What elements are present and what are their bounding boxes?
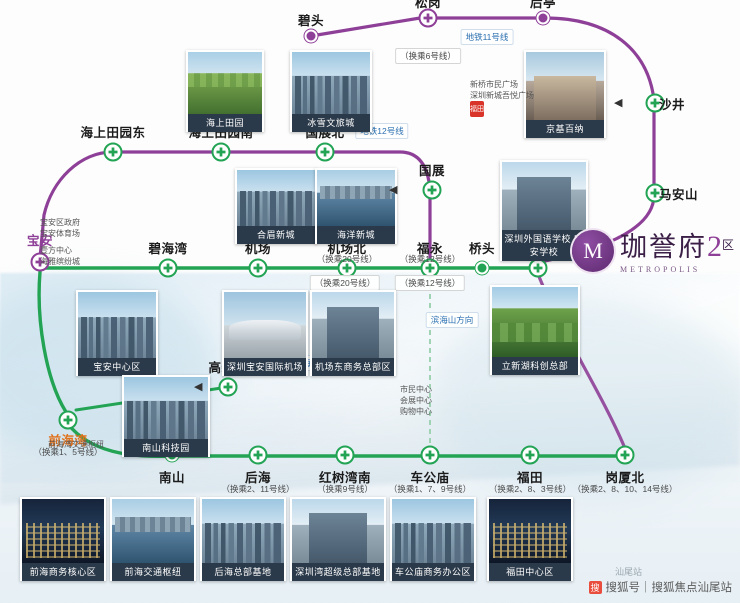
station-icon-bihaiwan (159, 259, 178, 278)
card-futian-center-photo (489, 499, 571, 563)
station-note-chegongmiao: （换乘1、7、9号线） (389, 483, 471, 495)
station-icon-tangwei (529, 259, 548, 278)
card-airport-hub-caption: 深圳宝安国际机场 (224, 358, 306, 376)
station-icon-guozhanbei (316, 143, 335, 162)
card-lichao-image (492, 287, 578, 357)
card-haiyang[interactable]: 海洋新城 (315, 168, 397, 244)
card-airport-hub-photo (224, 292, 306, 358)
station-marker-gaoxinyuan[interactable] (219, 378, 238, 397)
station-marker-haishangtianyuandong[interactable] (104, 143, 123, 162)
card-hexie[interactable]: 合眉新城 (235, 168, 317, 244)
station-marker-futian[interactable] (521, 446, 540, 465)
station-icon-songgang (419, 9, 438, 28)
station-label-houting: 后亭 (530, 0, 556, 11)
station-marker-bitou[interactable] (305, 30, 318, 43)
station-marker-tangwei[interactable] (529, 259, 548, 278)
watermark: 搜 搜狐号｜搜狐焦点汕尾站 (589, 579, 733, 595)
station-label-shajing: 沙井 (659, 94, 685, 113)
card-hexie-caption: 合眉新城 (237, 226, 315, 244)
card-qianhai-core-photo (22, 499, 104, 563)
station-label-songgang: 松岗 (415, 0, 441, 11)
card-bingxue-caption: 冰雪文旅城 (292, 114, 370, 132)
station-marker-guozhanbei[interactable] (316, 143, 335, 162)
station-marker-qiaotou[interactable] (476, 262, 489, 275)
card-airport-hub[interactable]: 深圳宝安国际机场 (222, 290, 308, 376)
station-marker-gangxiabei[interactable] (616, 446, 635, 465)
card-jingji-image (526, 52, 604, 120)
note-futian-cbd: 市民中心 会展中心 购物中心 (400, 385, 432, 417)
card-bingxue-image (292, 52, 370, 114)
card-qianhai-hub2-caption: 前海交通枢纽 (112, 563, 194, 581)
card-haiyang-caption: 海洋新城 (317, 226, 395, 244)
station-icon-houting (537, 12, 550, 25)
logo-name: 珈誉府2 (620, 232, 724, 262)
line-tag-tag-xf20: （换乘20号线） (310, 275, 380, 291)
card-lichao-caption: 立新湖科创总部 (492, 357, 578, 375)
card-chegongmiao-caption: 车公庙商务办公区 (392, 563, 474, 581)
arrow-guozhan: ◀ (389, 183, 397, 196)
card-chegongmiao-photo (392, 499, 474, 563)
card-haishangtianyuan-photo (188, 52, 262, 114)
card-houhai-hq-image (202, 499, 284, 563)
card-jingji[interactable]: 京基百纳 (524, 50, 606, 138)
station-marker-haishangtianyuannan[interactable] (212, 143, 231, 162)
card-haiyang-photo (317, 170, 395, 226)
card-haishangtianyuan-image (188, 52, 262, 114)
station-note-futian: （换乘2、8、3号线） (489, 483, 571, 495)
card-hexie-image (237, 170, 315, 226)
card-baoan-center-photo (78, 292, 156, 358)
line-tag-tag-xf6: （换乘6号线） (395, 48, 461, 64)
station-note-houhai: （换乘2、11号线） (221, 483, 294, 495)
watermark-text: 搜狐号｜搜狐焦点汕尾站 (606, 579, 733, 595)
card-houhai-hq-caption: 后海总部基地 (202, 563, 284, 581)
map-canvas: 松岗（换乘6号线）后亭碧头沙井马安山海上田园东海上田园南国展北国展宝安碧海湾机场… (0, 0, 740, 603)
station-marker-jichang[interactable] (249, 259, 268, 278)
card-airport-east[interactable]: 机场东商务总部区 (310, 290, 396, 376)
card-shenzhenwan-caption: 深圳湾超级总部基地 (292, 563, 384, 581)
station-icon-gaoxinyuan (219, 378, 238, 397)
station-marker-houting[interactable] (537, 12, 550, 25)
card-futian-center-image (489, 499, 571, 563)
card-qianhai-hub2-photo (112, 499, 194, 563)
station-note-hongshuwannan: （换乘9号线） (317, 483, 373, 495)
card-houhai-hq[interactable]: 后海总部基地 (200, 497, 286, 581)
card-bingxue-photo (292, 52, 370, 114)
card-haishangtianyuan-caption: 海上田园 (188, 114, 262, 132)
card-qianhai-core-image (22, 499, 104, 563)
station-marker-chegongmiao[interactable] (421, 446, 440, 465)
card-futian-center[interactable]: 福田中心区 (487, 497, 573, 581)
card-shenzhenwan-photo (292, 499, 384, 563)
card-lichao[interactable]: 立新湖科创总部 (490, 285, 580, 375)
card-futian-center-caption: 福田中心区 (489, 563, 571, 581)
card-huizhan-photo (502, 162, 586, 230)
line-tag-tag-xf12: （换乘12号线） (395, 275, 465, 291)
card-hexie-photo (237, 170, 315, 226)
card-nanshan-park-caption: 南山科技园 (124, 439, 208, 457)
station-marker-qianhaiwan[interactable] (59, 411, 78, 430)
poi-badge-xinqiao: 福田 (470, 101, 484, 117)
station-icon-futian (521, 446, 540, 465)
station-icon-haishangtianyuannan (212, 143, 231, 162)
note-qianhai-hub: 前海湾交通枢纽 (48, 440, 104, 451)
station-icon-jichang (249, 259, 268, 278)
watermark-badge: 搜 (589, 581, 602, 594)
station-marker-hongshuwannan[interactable] (336, 446, 355, 465)
station-icon-qianhaiwan (59, 411, 78, 430)
station-marker-houhai[interactable] (249, 446, 268, 465)
card-haiyang-image (317, 170, 395, 226)
card-chegongmiao[interactable]: 车公庙商务办公区 (390, 497, 476, 581)
card-shenzhenwan-image (292, 499, 384, 563)
watermark-corner: 汕尾站 (615, 565, 642, 578)
project-logo: M 珈誉府2 METROPOLIS 区 (572, 230, 732, 276)
station-label-haishangtianyuandong: 海上田园东 (80, 122, 145, 141)
card-lichao-photo (492, 287, 578, 357)
station-note-fuyong: （换乘12号线） (400, 253, 460, 265)
card-huizhan-image (502, 162, 586, 230)
station-label-nanshan: 南山 (159, 467, 185, 486)
logo-subtitle: METROPOLIS (620, 265, 724, 274)
line-tag-tag-11: 地铁11号线 (461, 29, 514, 45)
card-shenzhenwan[interactable]: 深圳湾超级总部基地 (290, 497, 386, 581)
note-xinqiao: 新桥市民广场 深圳新城吾悦广场 (470, 80, 534, 102)
station-label-bihaiwan: 碧海湾 (148, 238, 187, 257)
card-haishangtianyuan[interactable]: 海上田园 (186, 50, 264, 132)
station-label-maanshan: 马安山 (659, 184, 698, 203)
card-jingji-caption: 京基百纳 (526, 120, 604, 138)
station-label-qiaotou: 桥头 (469, 238, 495, 257)
card-qianhai-core[interactable]: 前海商务核心区 (20, 497, 106, 581)
station-icon-houhai (249, 446, 268, 465)
logo-zone: 区 (722, 236, 734, 253)
card-qianhai-hub2[interactable]: 前海交通枢纽 (110, 497, 196, 581)
card-bingxue[interactable]: 冰雪文旅城 (290, 50, 372, 132)
station-icon-haishangtianyuandong (104, 143, 123, 162)
station-label-bitou: 碧头 (298, 10, 324, 29)
station-label-guozhan: 国展 (419, 160, 445, 179)
logo-mark: M (572, 230, 614, 272)
card-qianhai-hub2-image (112, 499, 194, 563)
arrow-gaoxinyuan: ◀ (194, 380, 202, 393)
arrow-shajing: ◀ (614, 96, 622, 109)
station-marker-songgang[interactable] (419, 9, 438, 28)
card-baoan-center-image (78, 292, 156, 358)
card-airport-east-image (312, 292, 394, 358)
card-airport-east-caption: 机场东商务总部区 (312, 358, 394, 376)
station-icon-qiaotou (476, 262, 489, 275)
line-tag-tag-qianhai-dir: 滨海山方向 (426, 312, 479, 328)
station-icon-hongshuwannan (336, 446, 355, 465)
station-icon-gangxiabei (616, 446, 635, 465)
note-baoan-center: 壹方中心 海雅缤纷城 (40, 246, 80, 268)
station-icon-bitou (305, 30, 318, 43)
card-qianhai-core-caption: 前海商务核心区 (22, 563, 104, 581)
note-baoan-gov: 宝安区政府 宝安体育场 (40, 218, 80, 240)
station-note-gangxiabei: （换乘2、8、10、14号线） (573, 483, 678, 495)
logo-name-text: 珈誉府 (620, 232, 707, 262)
card-jingji-photo (526, 52, 604, 120)
station-marker-bihaiwan[interactable] (159, 259, 178, 278)
station-icon-guozhan (423, 181, 442, 200)
station-icon-chegongmiao (421, 446, 440, 465)
station-note-jichangbei: （换乘20号线） (317, 253, 377, 265)
card-chegongmiao-image (392, 499, 474, 563)
card-airport-hub-image (224, 292, 306, 358)
card-airport-east-photo (312, 292, 394, 358)
card-houhai-hq-photo (202, 499, 284, 563)
station-marker-guozhan[interactable] (423, 181, 442, 200)
card-baoan-center-caption: 宝安中心区 (78, 358, 156, 376)
card-baoan-center[interactable]: 宝安中心区 (76, 290, 158, 376)
